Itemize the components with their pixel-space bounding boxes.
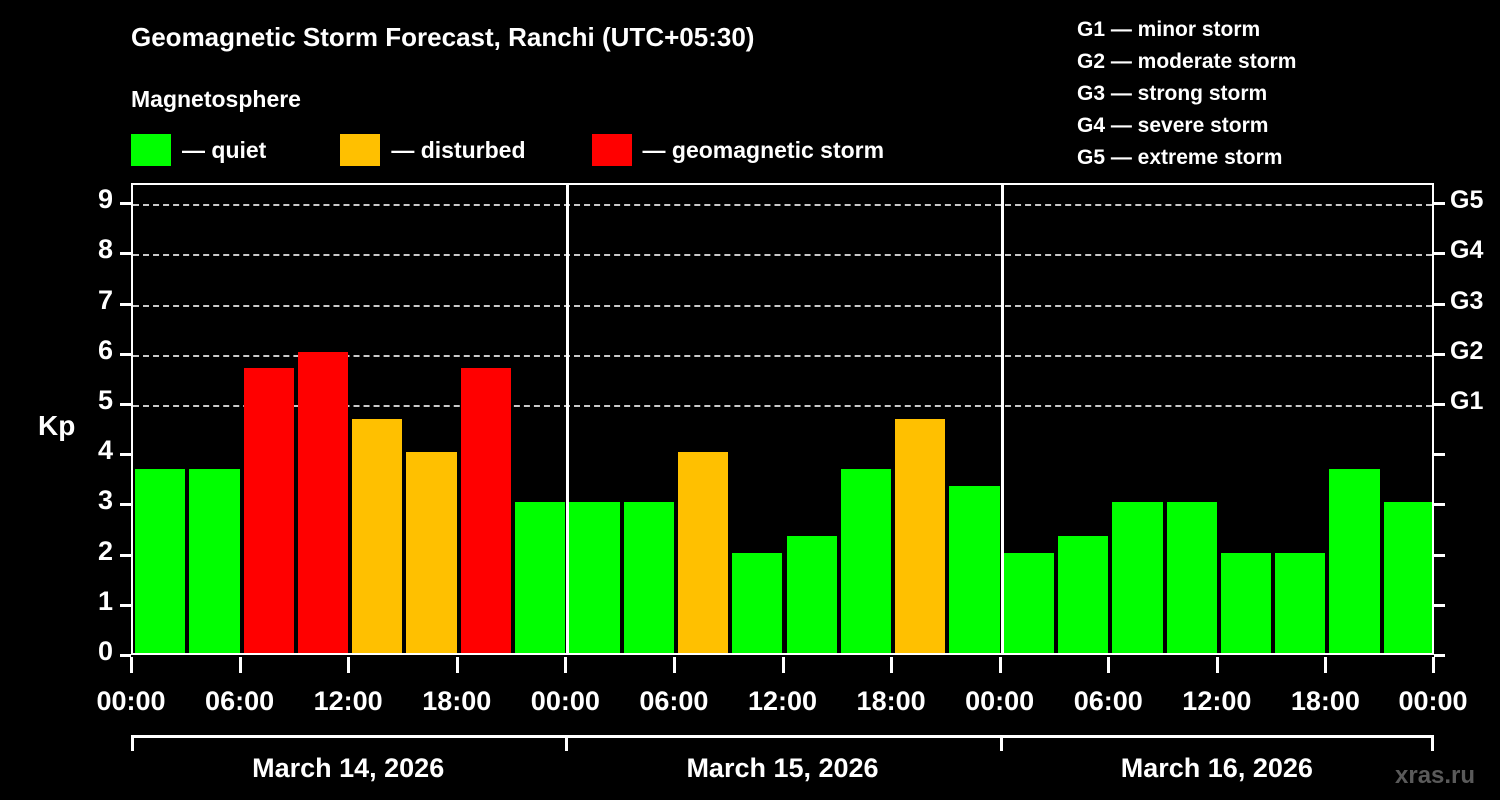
x-tick-2 (347, 657, 350, 673)
y-tick-label-1: 1 (98, 588, 113, 615)
y-tick-label-5: 5 (98, 387, 113, 414)
y-tick-right-5 (1434, 403, 1445, 406)
bar[interactable] (298, 352, 348, 653)
bar[interactable] (1275, 553, 1325, 653)
y-tick-right-6 (1434, 353, 1445, 356)
y-tick-label-0: 0 (98, 638, 113, 665)
x-tick-label-9: 06:00 (1074, 686, 1143, 717)
bar[interactable] (678, 452, 728, 653)
date-bracket-tick-3 (1431, 735, 1434, 751)
g-label-G2: G2 (1450, 339, 1483, 364)
y-tick-right-7 (1434, 303, 1445, 306)
y-tick-label-7: 7 (98, 287, 113, 314)
legend-entry-disturbed[interactable]: — disturbed (340, 134, 525, 166)
date-bracket-bar (131, 735, 1434, 738)
bar[interactable] (1221, 553, 1271, 653)
y-tick-left-2 (120, 554, 131, 557)
date-bracket-tick-2 (1000, 735, 1003, 751)
gscale-line-g5: G5 — extreme storm (1077, 142, 1296, 174)
y-tick-right-9 (1434, 202, 1445, 205)
x-tick-label-7: 18:00 (857, 686, 926, 717)
bar[interactable] (732, 553, 782, 653)
legend-swatch-disturbed (340, 134, 380, 166)
magnetosphere-label: Magnetosphere (131, 86, 301, 113)
y-tick-left-3 (120, 503, 131, 506)
gscale-line-g1: G1 — minor storm (1077, 14, 1296, 46)
date-label-2: March 15, 2026 (686, 753, 878, 784)
bar[interactable] (352, 419, 402, 653)
g-label-G1: G1 (1450, 389, 1483, 414)
legend-label-quiet: — quiet (182, 139, 266, 162)
page-title: Geomagnetic Storm Forecast, Ranchi (UTC+… (131, 22, 754, 53)
x-tick-4 (564, 657, 567, 673)
x-tick-11 (1324, 657, 1327, 673)
y-tick-left-8 (120, 252, 131, 255)
bar[interactable] (841, 469, 891, 653)
x-tick-label-11: 18:00 (1291, 686, 1360, 717)
gscale-line-g3: G3 — strong storm (1077, 78, 1296, 110)
date-label-3: March 16, 2026 (1121, 753, 1313, 784)
y-axis-title: Kp (38, 410, 75, 442)
bar[interactable] (1384, 502, 1434, 653)
legend-label-disturbed: — disturbed (391, 139, 525, 162)
x-tick-label-0: 00:00 (96, 686, 165, 717)
x-tick-label-8: 00:00 (965, 686, 1034, 717)
legend-swatch-quiet (131, 134, 171, 166)
y-tick-left-0 (120, 654, 131, 657)
bar[interactable] (515, 502, 565, 653)
date-bracket (131, 735, 1434, 751)
g-label-G5: G5 (1450, 188, 1483, 213)
y-tick-left-7 (120, 303, 131, 306)
y-tick-label-9: 9 (98, 186, 113, 213)
gridline-kp-7 (133, 305, 1432, 307)
bar[interactable] (1004, 553, 1054, 653)
gscale-legend: G1 — minor stormG2 — moderate stormG3 — … (1077, 14, 1296, 174)
x-tick-label-5: 06:00 (639, 686, 708, 717)
y-tick-left-5 (120, 403, 131, 406)
y-tick-label-6: 6 (98, 337, 113, 364)
x-tick-label-10: 12:00 (1182, 686, 1251, 717)
x-tick-label-1: 06:00 (205, 686, 274, 717)
y-tick-label-3: 3 (98, 487, 113, 514)
x-tick-7 (890, 657, 893, 673)
bar[interactable] (406, 452, 456, 653)
day-separator-2 (1001, 185, 1004, 653)
date-label-1: March 14, 2026 (252, 753, 444, 784)
x-tick-6 (782, 657, 785, 673)
g-label-G3: G3 (1450, 289, 1483, 314)
x-tick-label-2: 12:00 (314, 686, 383, 717)
bar[interactable] (624, 502, 674, 653)
bar[interactable] (787, 536, 837, 653)
y-tick-left-9 (120, 202, 131, 205)
bar[interactable] (895, 419, 945, 653)
x-tick-5 (673, 657, 676, 673)
gscale-line-g2: G2 — moderate storm (1077, 46, 1296, 78)
bar[interactable] (1329, 469, 1379, 653)
x-tick-8 (999, 657, 1002, 673)
day-separator-1 (566, 185, 569, 653)
date-bracket-tick-0 (131, 735, 134, 751)
y-tick-left-6 (120, 353, 131, 356)
legend-label-geomagnetic-storm: — geomagnetic storm (643, 139, 885, 162)
x-tick-1 (239, 657, 242, 673)
x-tick-0 (130, 657, 133, 673)
date-bracket-tick-1 (565, 735, 568, 751)
y-tick-right-2 (1434, 554, 1445, 557)
gridline-kp-8 (133, 254, 1432, 256)
chart-root: Geomagnetic Storm Forecast, Ranchi (UTC+… (0, 0, 1500, 800)
bar[interactable] (244, 368, 294, 653)
y-tick-right-0 (1434, 654, 1445, 657)
gridline-kp-9 (133, 204, 1432, 206)
x-tick-3 (456, 657, 459, 673)
color-legend: — quiet— disturbed— geomagnetic storm (131, 134, 884, 166)
legend-entry-geomagnetic-storm[interactable]: — geomagnetic storm (592, 134, 885, 166)
x-tick-12 (1432, 657, 1435, 673)
x-tick-10 (1216, 657, 1219, 673)
y-tick-right-1 (1434, 604, 1445, 607)
legend-swatch-geomagnetic-storm (592, 134, 632, 166)
y-tick-label-4: 4 (98, 437, 113, 464)
bar[interactable] (1058, 536, 1108, 653)
y-tick-right-3 (1434, 503, 1445, 506)
bar[interactable] (569, 502, 619, 653)
y-tick-label-8: 8 (98, 236, 113, 263)
bar[interactable] (135, 469, 185, 653)
g-label-G4: G4 (1450, 238, 1483, 263)
x-tick-label-3: 18:00 (422, 686, 491, 717)
y-tick-label-2: 2 (98, 538, 113, 565)
bar[interactable] (189, 469, 239, 653)
x-tick-9 (1107, 657, 1110, 673)
bar[interactable] (1112, 502, 1162, 653)
x-tick-label-6: 12:00 (748, 686, 817, 717)
bar[interactable] (1167, 502, 1217, 653)
legend-entry-quiet[interactable]: — quiet (131, 134, 266, 166)
watermark: xras.ru (1395, 762, 1475, 790)
x-tick-label-12: 00:00 (1398, 686, 1467, 717)
y-tick-right-4 (1434, 453, 1445, 456)
bar[interactable] (461, 368, 511, 653)
y-tick-left-4 (120, 453, 131, 456)
y-tick-left-1 (120, 604, 131, 607)
bar[interactable] (949, 486, 999, 653)
gscale-line-g4: G4 — severe storm (1077, 110, 1296, 142)
plot-area (131, 183, 1434, 655)
y-tick-right-8 (1434, 252, 1445, 255)
x-tick-label-4: 00:00 (531, 686, 600, 717)
